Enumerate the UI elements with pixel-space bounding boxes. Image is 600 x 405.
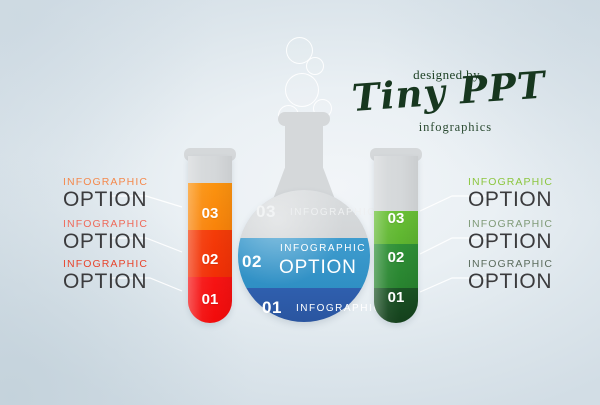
right-label-main-01: OPTION (468, 271, 553, 292)
left-segment-label-02: 02 (188, 251, 232, 268)
left-label-02[interactable]: INFOGRAPHIC OPTION (63, 218, 148, 252)
infographic-canvas: designed by Tiny PPT infographics 03 INF… (0, 0, 600, 405)
flask-number-02: 02 (242, 252, 262, 272)
right-label-main-03: OPTION (468, 189, 553, 210)
left-segment-label-03: 03 (188, 205, 232, 222)
right-label-main-02: OPTION (468, 231, 553, 252)
bubble-icon (306, 57, 324, 75)
flask-title-02: INFOGRAPHIC (280, 243, 366, 254)
flask-title-03: INFOGRAPHIC (290, 207, 376, 218)
flask-title-01: INFOGRAPHIC (296, 303, 382, 314)
left-segment-label-01: 01 (188, 291, 232, 308)
center-flask: 03 INFOGRAPHIC 02 INFOGRAPHIC OPTION 01 … (232, 112, 376, 324)
flask-number-03: 03 (256, 202, 276, 222)
right-segment-label-01: 01 (374, 289, 418, 306)
left-label-sub-03: INFOGRAPHIC (63, 176, 148, 188)
right-label-02[interactable]: INFOGRAPHIC OPTION (468, 218, 553, 252)
left-label-sub-01: INFOGRAPHIC (63, 258, 148, 270)
flask-number-01: 01 (262, 298, 282, 318)
left-label-01[interactable]: INFOGRAPHIC OPTION (63, 258, 148, 292)
left-label-main-03: OPTION (63, 189, 148, 210)
right-label-sub-02: INFOGRAPHIC (468, 218, 553, 230)
right-label-03[interactable]: INFOGRAPHIC OPTION (468, 176, 553, 210)
right-label-sub-03: INFOGRAPHIC (468, 176, 553, 188)
left-label-main-02: OPTION (63, 231, 148, 252)
right-segment-label-02: 02 (374, 249, 418, 266)
flask-subtitle-02: OPTION (279, 257, 357, 279)
left-label-03[interactable]: INFOGRAPHIC OPTION (63, 176, 148, 210)
left-label-sub-02: INFOGRAPHIC (63, 218, 148, 230)
right-segment-label-03: 03 (374, 210, 418, 227)
logo-tagline: infographics (419, 120, 492, 135)
left-label-main-01: OPTION (63, 271, 148, 292)
right-label-sub-01: INFOGRAPHIC (468, 258, 553, 270)
right-label-01[interactable]: INFOGRAPHIC OPTION (468, 258, 553, 292)
